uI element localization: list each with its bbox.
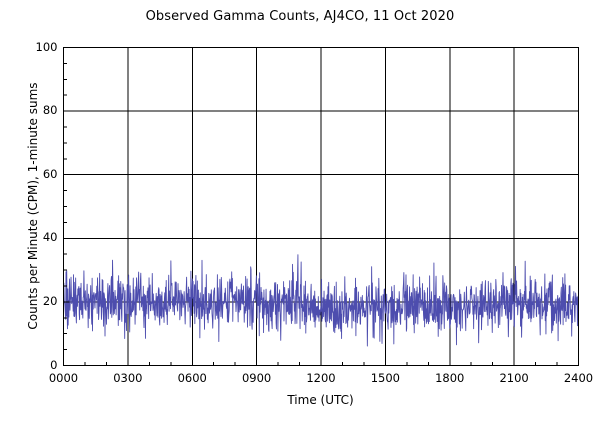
x-tick-label: 0900 [227,371,287,385]
chart-figure: Observed Gamma Counts, AJ4CO, 11 Oct 202… [0,0,600,428]
y-tick-label: 60 [16,167,58,181]
plot-canvas [0,0,600,428]
x-tick-label: 0000 [34,371,94,385]
x-tick-label: 1800 [420,371,480,385]
x-tick-label: 2100 [484,371,544,385]
y-tick-label: 20 [16,294,58,308]
x-tick-label: 2400 [549,371,600,385]
x-tick-label: 0600 [162,371,222,385]
gridlines [64,48,579,366]
y-tick-label: 40 [16,230,58,244]
x-axis-label: Time (UTC) [63,393,578,407]
x-tick-label: 0300 [98,371,158,385]
y-tick-label: 0 [16,358,58,372]
x-tick-label: 1200 [291,371,351,385]
y-tick-label: 80 [16,103,58,117]
x-tick-label: 1500 [355,371,415,385]
y-tick-label: 100 [16,40,58,54]
